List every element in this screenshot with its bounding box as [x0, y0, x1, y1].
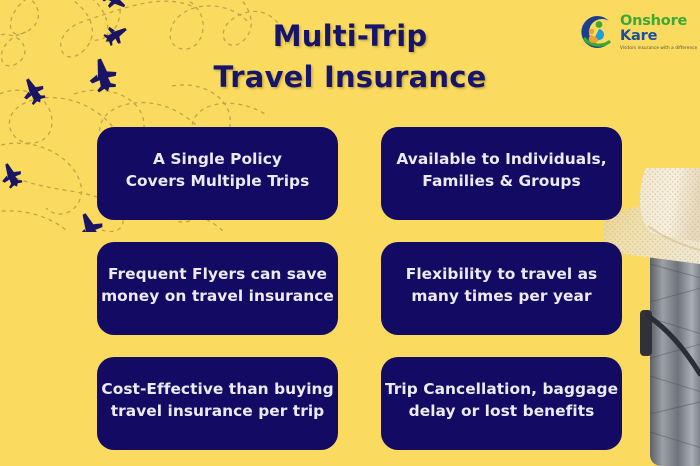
- benefit-card-text: Cost-Effective than buying travel insura…: [101, 379, 333, 423]
- card-line-1: Trip Cancellation, baggage: [385, 379, 618, 401]
- benefit-card-grid: A Single Policy Covers Multiple Trips Av…: [97, 127, 622, 450]
- card-line-1: A Single Policy: [126, 149, 310, 171]
- card-line-2: delay or lost benefits: [385, 401, 618, 423]
- card-line-1: Available to Individuals,: [396, 149, 606, 171]
- infographic-poster: Onshore Kare Visitors insurance with a d…: [0, 0, 700, 466]
- benefit-card-text: Flexibility to travel as many times per …: [406, 264, 598, 308]
- page-title: Multi-Trip Travel Insurance: [0, 16, 700, 98]
- card-line-1: Frequent Flyers can save: [101, 264, 334, 286]
- benefit-card-text: Frequent Flyers can save money on travel…: [101, 264, 334, 308]
- benefit-card-text: Trip Cancellation, baggage delay or lost…: [385, 379, 618, 423]
- card-line-2: many times per year: [406, 286, 598, 308]
- benefit-card-trip-cancellation: Trip Cancellation, baggage delay or lost…: [381, 357, 622, 450]
- benefit-card-text: Available to Individuals, Families & Gro…: [396, 149, 606, 193]
- card-line-2: money on travel insurance: [101, 286, 334, 308]
- benefit-card-available-to: Available to Individuals, Families & Gro…: [381, 127, 622, 220]
- benefit-card-frequent-flyers: Frequent Flyers can save money on travel…: [97, 242, 338, 335]
- card-line-2: Covers Multiple Trips: [126, 171, 310, 193]
- page-title-line-1: Multi-Trip: [0, 16, 700, 57]
- card-line-1: Cost-Effective than buying: [101, 379, 333, 401]
- benefit-card-text: A Single Policy Covers Multiple Trips: [126, 149, 310, 193]
- benefit-card-flexibility: Flexibility to travel as many times per …: [381, 242, 622, 335]
- card-line-1: Flexibility to travel as: [406, 264, 598, 286]
- benefit-card-cost-effective: Cost-Effective than buying travel insura…: [97, 357, 338, 450]
- card-line-2: Families & Groups: [396, 171, 606, 193]
- card-line-2: travel insurance per trip: [101, 401, 333, 423]
- benefit-card-single-policy: A Single Policy Covers Multiple Trips: [97, 127, 338, 220]
- page-title-line-2: Travel Insurance: [0, 57, 700, 98]
